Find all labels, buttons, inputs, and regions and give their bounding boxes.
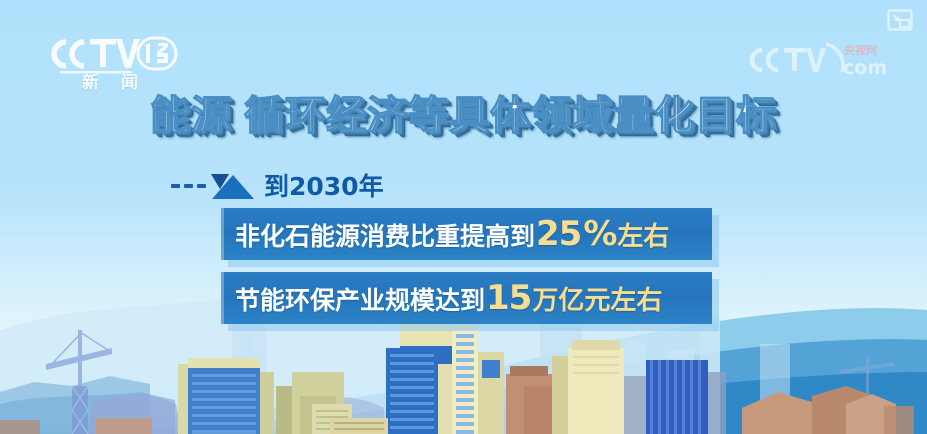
- page-title: 能源循环经济等具体领域量化目标: [0, 96, 927, 136]
- goal-banner-1-text: 非化石能源消费比重提高到25%左右: [235, 217, 669, 251]
- goal-1-suffix: 左右: [617, 222, 669, 252]
- dashed-line-icon: [171, 184, 206, 188]
- goal-1-number: 25: [536, 214, 581, 254]
- year-marker-row: 到2030年: [171, 170, 384, 202]
- broadcast-graphic-frame: 新 闻 央视网 com: [0, 0, 927, 434]
- cctv-com-watermark: 央视网 com: [748, 38, 888, 82]
- headline-part-2: 循环经济等具体领域量化目标: [244, 93, 777, 139]
- triangle-marker-icon: [211, 173, 255, 200]
- headline-part-1: 能源: [150, 93, 232, 139]
- year-label: 到2030年: [264, 174, 384, 199]
- goal-1-unit: %: [583, 214, 616, 254]
- picture-in-picture-icon[interactable]: [887, 9, 913, 31]
- logo-subtitle: 新 闻: [60, 68, 160, 93]
- goal-1-lead: 非化石能源消费比重提高到: [235, 222, 535, 251]
- goal-2-number: 15: [486, 278, 531, 318]
- svg-text:央视网: 央视网: [844, 43, 877, 57]
- goal-2-suffix: 左右: [610, 286, 662, 316]
- goal-banner-2-text: 节能环保产业规模达到15万亿元左右: [235, 281, 662, 315]
- svg-text:com: com: [843, 57, 887, 79]
- goal-2-lead: 节能环保产业规模达到: [235, 286, 485, 315]
- goal-banner-1: 非化石能源消费比重提高到25%左右: [221, 208, 712, 260]
- goal-2-unit: 万亿元: [532, 286, 610, 316]
- goal-banner-2: 节能环保产业规模达到15万亿元左右: [221, 272, 712, 324]
